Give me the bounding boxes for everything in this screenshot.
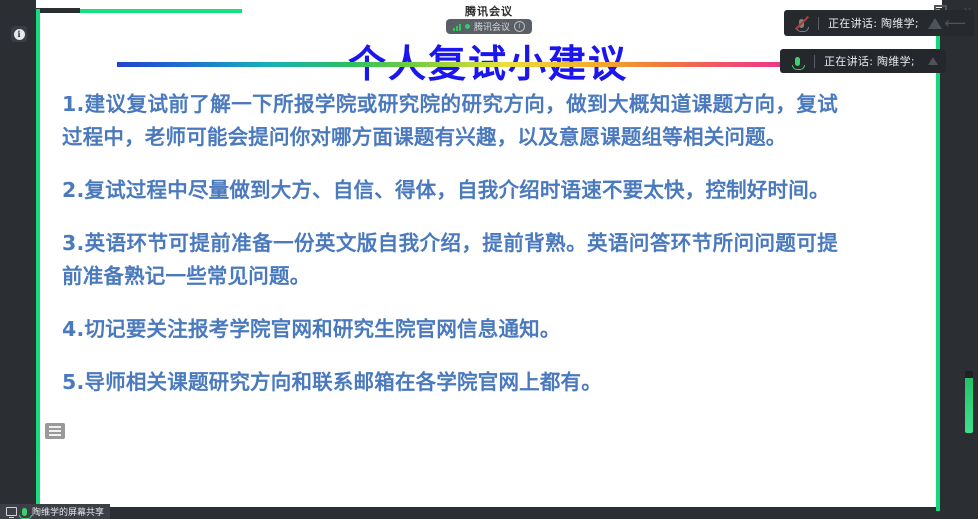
microphone-muted-icon	[784, 19, 818, 28]
info-icon: i	[14, 29, 25, 40]
screen-share-icon	[6, 507, 17, 516]
collapse-icon[interactable]	[928, 18, 942, 29]
list-menu-icon[interactable]	[45, 423, 65, 439]
list-item: 5.导师相关课题研究方向和联系邮箱在各学院官网上都有。	[62, 366, 838, 399]
notification-actions[interactable]: ⟵	[928, 18, 974, 29]
meeting-info-button[interactable]: i	[11, 26, 27, 42]
screen-root: 个人复试小建议 1.建议复试前了解一下所报学院或研究院的研究方向，做到大概知道课…	[0, 0, 978, 519]
taskbar-share-item[interactable]: 陶维学的屏幕共享	[0, 504, 110, 519]
list-item: 2.复试过程中尽量做到大方、自信、得体，自我介绍时语速不要太快，控制好时间。	[62, 174, 838, 207]
speaking-notification-primary[interactable]: 正在讲话: 陶维学; ⟵	[784, 10, 974, 36]
speaking-notification-secondary[interactable]: 正在讲话: 陶维学;	[780, 49, 946, 73]
share-region-border-right	[936, 9, 940, 511]
notification-actions[interactable]	[928, 57, 946, 65]
speaking-label: 正在讲话: 陶维学;	[828, 15, 928, 31]
speaking-label: 正在讲话: 陶维学;	[824, 53, 928, 69]
back-arrow-icon[interactable]: ⟵	[944, 18, 966, 28]
meeting-status-pill[interactable]: 腾讯会议 i	[446, 19, 532, 34]
microphone-icon	[780, 57, 814, 66]
taskbar-share-label: 陶维学的屏幕共享	[32, 505, 104, 518]
slide-body-list: 1.建议复试前了解一下所报学院或研究院的研究方向，做到大概知道课题方向，复试过程…	[62, 88, 838, 399]
info-circle-icon[interactable]: i	[514, 21, 525, 32]
list-item: 4.切记要关注报考学院官网和研究生院官网信息通知。	[62, 313, 838, 346]
notification-divider	[818, 17, 819, 30]
notification-divider	[814, 55, 815, 68]
desktop-frame-right	[936, 0, 978, 519]
desktop-frame-left	[0, 0, 36, 519]
status-pill-label: 腾讯会议	[474, 20, 510, 33]
collapse-icon[interactable]	[928, 57, 938, 65]
list-item: 1.建议复试前了解一下所报学院或研究院的研究方向，做到大概知道课题方向，复试过程…	[62, 88, 838, 154]
desktop-frame-bottom	[0, 507, 978, 519]
green-dot-icon	[465, 24, 470, 29]
list-item: 3.英语环节可提前准备一份英文版自我介绍，提前背熟。英语问答环节所问问题可提前准…	[62, 227, 838, 293]
microphone-icon	[22, 508, 27, 516]
signal-bars-icon	[453, 23, 461, 31]
title-divider	[117, 62, 797, 67]
scrollbar-thumb[interactable]	[965, 371, 973, 433]
